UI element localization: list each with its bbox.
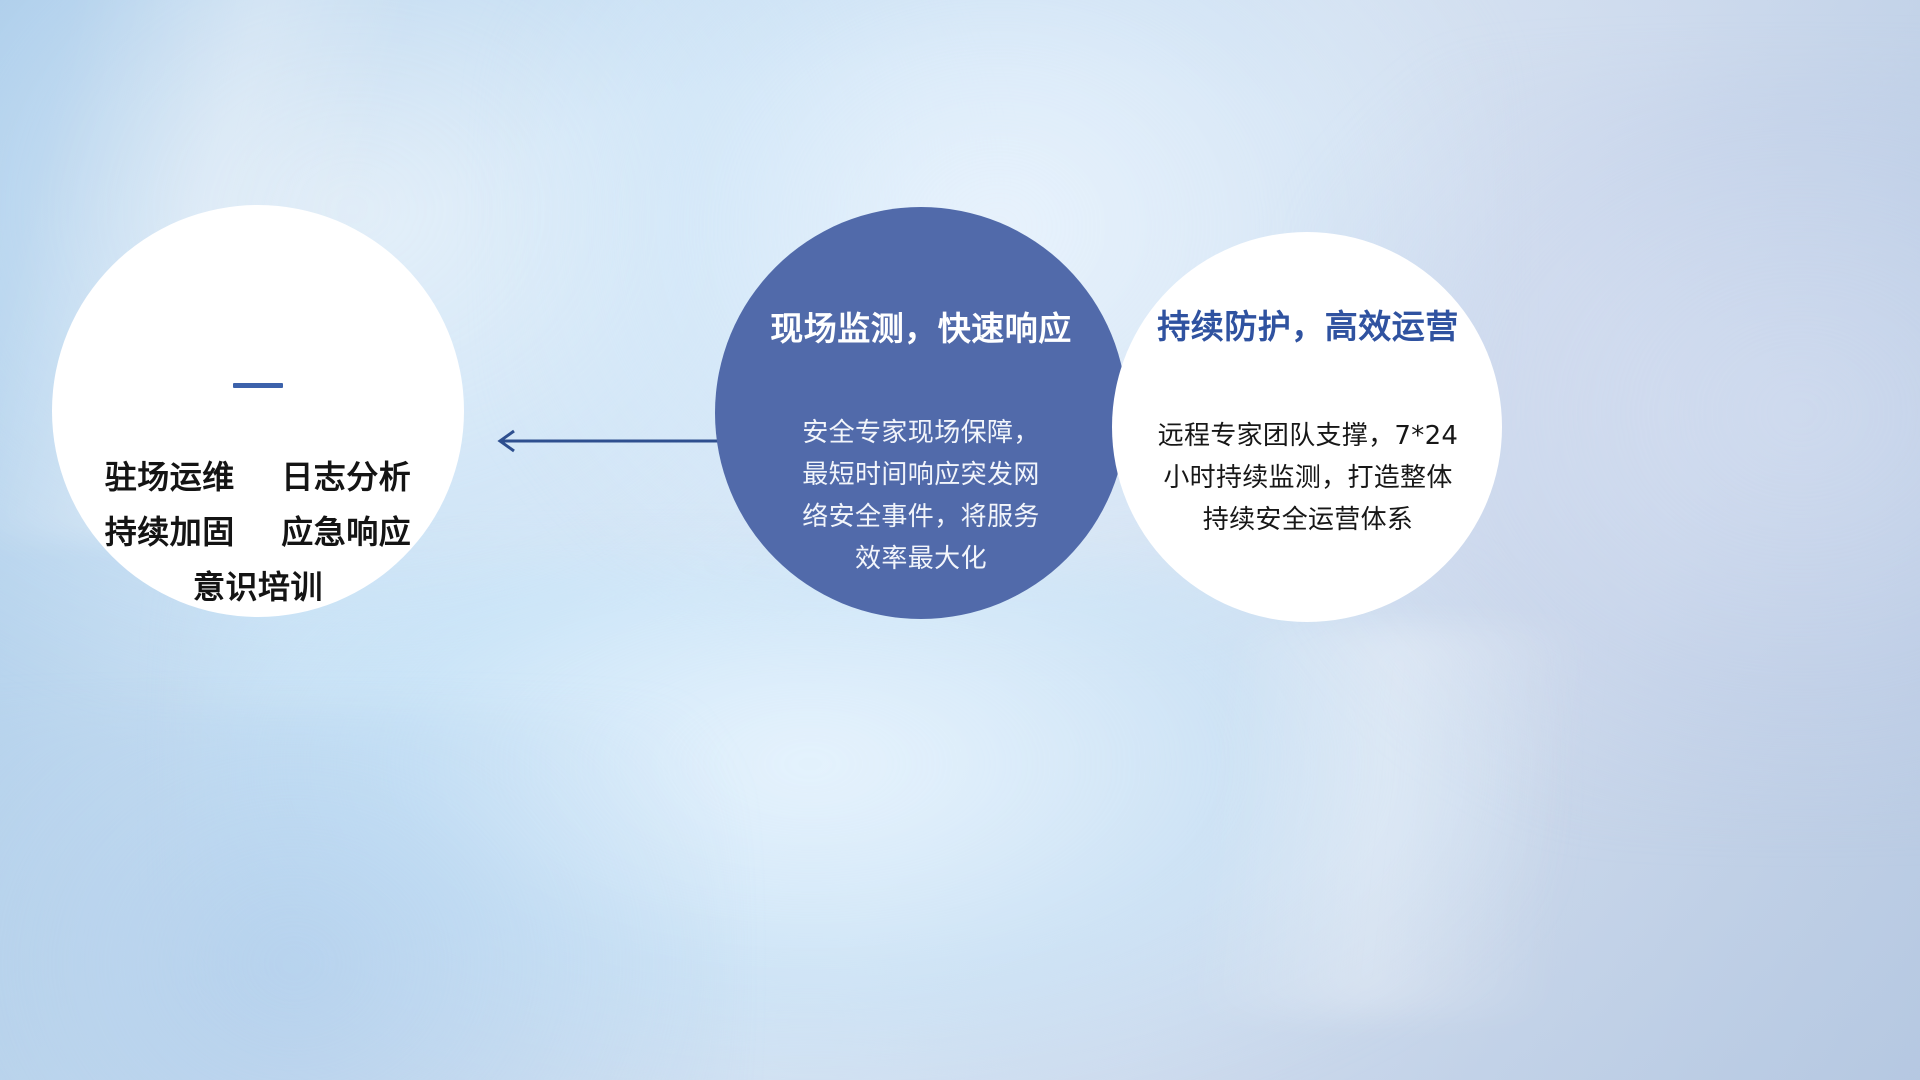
right-node-body: 远程专家团队支撑，7*24 小时持续监测，打造整体 持续安全运营体系 (1124, 415, 1492, 541)
right-node-title: 持续防护，高效运营 (1118, 300, 1498, 348)
right-node-body-line: 持续安全运营体系 (1124, 499, 1492, 541)
list-item: 驻场运维 日志分析 (105, 450, 412, 505)
left-node-content: 驻场运维 日志分析 持续加固 应急响应 意识培训 (52, 205, 464, 617)
middle-node-body: 安全专家现场保障， 最短时间响应突发网 络安全事件，将服务 效率最大化 (751, 412, 1091, 580)
middle-node-body-line: 效率最大化 (751, 538, 1091, 580)
connector-arrow (488, 415, 723, 467)
left-node-service-list: 驻场运维 日志分析 持续加固 应急响应 意识培训 (105, 450, 412, 615)
middle-node-body-line: 安全专家现场保障， (751, 412, 1091, 454)
middle-node-body-line: 络安全事件，将服务 (751, 496, 1091, 538)
middle-node-title: 现场监测，快速响应 (715, 302, 1127, 350)
diagram-stage: 驻场运维 日志分析 持续加固 应急响应 意识培训 现场监测，快速响应 安全专家现… (0, 0, 1920, 1080)
divider-dash-icon (233, 383, 283, 388)
right-node-body-line: 小时持续监测，打造整体 (1124, 457, 1492, 499)
left-node-circle[interactable]: 驻场运维 日志分析 持续加固 应急响应 意识培训 (52, 205, 464, 617)
right-node-body-line: 远程专家团队支撑，7*24 (1124, 415, 1492, 457)
middle-node-body-line: 最短时间响应突发网 (751, 454, 1091, 496)
list-item: 意识培训 (193, 560, 323, 615)
list-item: 持续加固 应急响应 (105, 505, 412, 560)
arrow-left-icon (488, 415, 723, 467)
